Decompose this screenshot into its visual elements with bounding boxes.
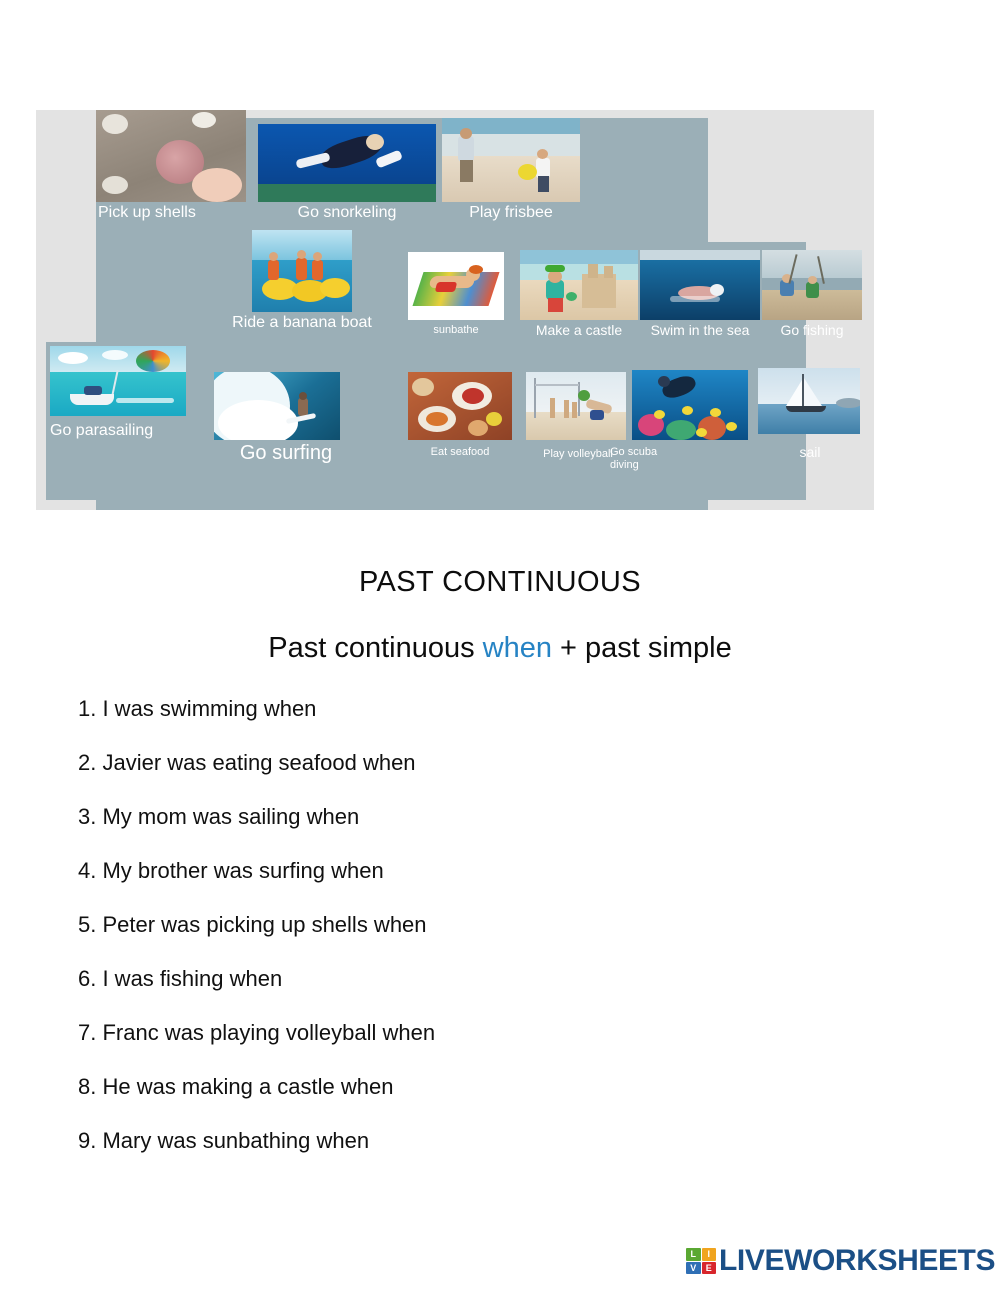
list-item: 1. I was swimming when	[78, 694, 878, 748]
exercise-list: 1. I was swimming when 2. Javier was eat…	[78, 694, 878, 1180]
logo-letter-l: L	[686, 1248, 701, 1261]
logo-letter-v: V	[686, 1262, 701, 1275]
tile-caption: sail	[758, 444, 862, 460]
tile-caption: Eat seafood	[408, 446, 512, 459]
tile-sail: sail	[758, 368, 862, 460]
go-scuba-diving-image	[632, 370, 748, 440]
make-a-castle-image	[520, 250, 638, 320]
tile-ride-a-banana-boat: Ride a banana boat	[228, 230, 376, 332]
list-item: 9. Mary was sunbathing when	[78, 1126, 878, 1180]
activity-picture-collage: Pick up shells Go snorkeling Play frisbe	[36, 110, 874, 510]
go-snorkeling-image	[258, 124, 436, 202]
tile-go-snorkeling: Go snorkeling	[258, 124, 436, 222]
page-title: PAST CONTINUOUS	[0, 566, 1000, 599]
eat-seafood-image	[408, 372, 512, 440]
liveworksheets-wordmark: LIVEWORKSHEETS	[719, 1244, 995, 1278]
liveworksheets-mark-icon: L I V E	[686, 1248, 716, 1274]
liveworksheets-logo[interactable]: L I V E LIVEWORKSHEETS	[686, 1244, 995, 1278]
tile-caption: Play frisbee	[442, 204, 580, 222]
tile-caption: Swim in the sea	[640, 322, 760, 338]
subtitle-before: Past continuous	[268, 632, 482, 664]
list-item: 5. Peter was picking up shells when	[78, 910, 878, 964]
tile-swim-in-the-sea: Swim in the sea	[640, 250, 760, 338]
subtitle-after: + past simple	[552, 632, 732, 664]
pick-up-shells-image	[96, 110, 246, 202]
logo-letter-e: E	[702, 1262, 717, 1275]
tile-caption: Go scuba diving	[610, 446, 750, 471]
list-item: 3. My mom was sailing when	[78, 802, 878, 856]
sunbathe-image	[408, 252, 504, 320]
tile-caption: Go snorkeling	[258, 204, 436, 222]
ride-a-banana-boat-image	[252, 230, 352, 312]
tile-caption: Make a castle	[520, 322, 638, 338]
tile-play-frisbee: Play frisbee	[442, 118, 580, 222]
list-item: 8. He was making a castle when	[78, 1072, 878, 1126]
tile-eat-seafood: Eat seafood	[408, 372, 512, 459]
go-fishing-image	[762, 250, 862, 320]
tile-go-parasailing: Go parasailing	[50, 346, 198, 440]
tile-make-a-castle: Make a castle	[520, 250, 638, 338]
list-item: 4. My brother was surfing when	[78, 856, 878, 910]
tile-caption: Pick up shells	[98, 204, 246, 222]
list-item: 7. Franc was playing volleyball when	[78, 1018, 878, 1072]
tile-caption: Go surfing	[210, 442, 362, 465]
tile-go-surfing: Go surfing	[214, 372, 362, 465]
swim-in-the-sea-image	[640, 250, 760, 320]
list-item: 2. Javier was eating seafood when	[78, 748, 878, 802]
tile-caption: Go fishing	[762, 322, 862, 338]
go-surfing-image	[214, 372, 340, 440]
tile-go-fishing: Go fishing	[762, 250, 862, 338]
sail-image	[758, 368, 860, 434]
list-item: 6. I was fishing when	[78, 964, 878, 1018]
page-subtitle: Past continuous when + past simple	[0, 632, 1000, 665]
tile-caption: sunbathe	[408, 324, 504, 337]
logo-letter-i: I	[702, 1248, 717, 1261]
subtitle-highlight-when: when	[483, 632, 552, 664]
go-parasailing-image	[50, 346, 186, 416]
tile-go-scuba-diving: Go scuba diving	[632, 370, 750, 471]
tile-sunbathe: sunbathe	[408, 252, 504, 337]
tile-caption: Go parasailing	[50, 422, 198, 440]
play-volleyball-image	[526, 372, 626, 440]
tile-pick-up-shells: Pick up shells	[96, 110, 246, 222]
tile-caption: Ride a banana boat	[228, 314, 376, 332]
play-frisbee-image	[442, 118, 580, 202]
